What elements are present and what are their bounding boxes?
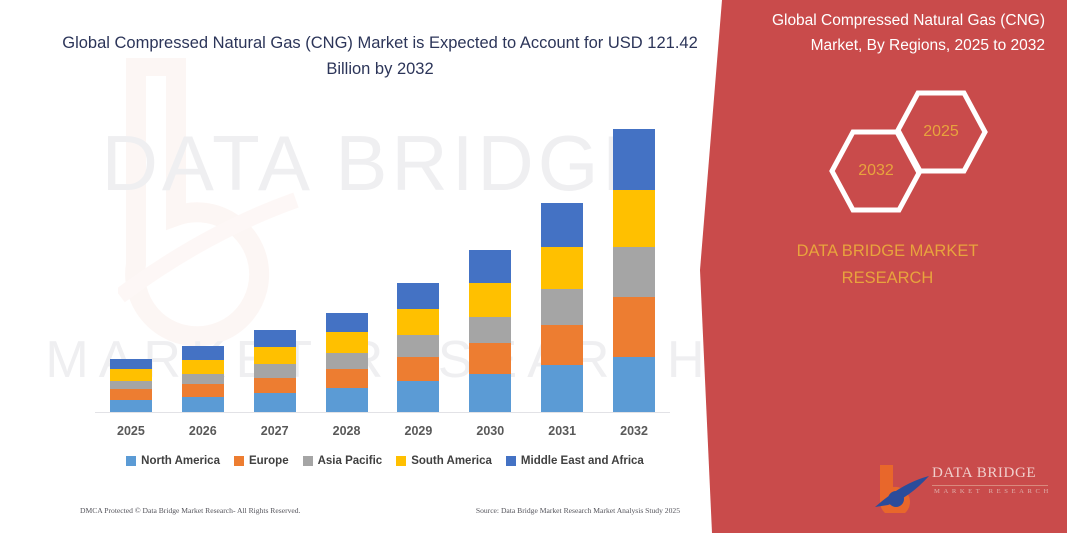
legend-label: Middle East and Africa <box>521 455 644 467</box>
bar-slot <box>526 110 598 412</box>
bar-segment-asia-pacific[interactable] <box>613 247 655 297</box>
bar-slot <box>311 110 383 412</box>
bar-segment-europe[interactable] <box>326 369 368 389</box>
bar-segment-south-america[interactable] <box>182 360 224 374</box>
logo-name: DATA BRIDGE <box>932 465 1036 482</box>
bar-segment-middle-east-and-africa[interactable] <box>326 313 368 333</box>
footer: DMCA Protected © Data Bridge Market Rese… <box>80 506 680 515</box>
bar-segment-north-america[interactable] <box>110 400 152 412</box>
bar-segment-north-america[interactable] <box>397 381 439 412</box>
bar-segment-asia-pacific[interactable] <box>469 317 511 344</box>
bar-segment-middle-east-and-africa[interactable] <box>541 203 583 247</box>
legend-swatch-icon <box>506 456 516 466</box>
bar-segment-middle-east-and-africa[interactable] <box>182 346 224 359</box>
x-tick-2029: 2029 <box>383 424 455 438</box>
bar-slot <box>167 110 239 412</box>
bar-segment-middle-east-and-africa[interactable] <box>254 330 296 346</box>
bar-segment-middle-east-and-africa[interactable] <box>469 250 511 283</box>
x-axis-tick-labels: 20252026202720282029203020312032 <box>95 424 670 444</box>
bar-segment-north-america[interactable] <box>182 397 224 412</box>
chart-panel: DATA BRIDGE MARKET RESEARCH Global Compr… <box>0 0 760 533</box>
legend-swatch-icon <box>234 456 244 466</box>
legend-item-middle-east-and-africa[interactable]: Middle East and Africa <box>506 455 644 467</box>
stacked-bar-plot <box>95 110 670 413</box>
bar-segment-europe[interactable] <box>182 384 224 396</box>
x-tick-2028: 2028 <box>311 424 383 438</box>
bar-segment-asia-pacific[interactable] <box>397 335 439 356</box>
footer-source: Source: Data Bridge Market Research Mark… <box>476 506 680 515</box>
bar-segment-asia-pacific[interactable] <box>541 289 583 325</box>
page-title: Global Compressed Natural Gas (CNG) Mark… <box>60 30 700 82</box>
stacked-bar-2026[interactable] <box>182 346 224 412</box>
footer-copyright: DMCA Protected © Data Bridge Market Rese… <box>80 506 300 515</box>
x-tick-2025: 2025 <box>95 424 167 438</box>
bar-segment-north-america[interactable] <box>469 374 511 412</box>
x-tick-2032: 2032 <box>598 424 670 438</box>
hexagon-start-year-label: 2025 <box>894 90 988 174</box>
bar-segment-europe[interactable] <box>541 325 583 365</box>
legend-swatch-icon <box>396 456 406 466</box>
stacked-bar-2032[interactable] <box>613 129 655 412</box>
bar-segment-europe[interactable] <box>110 389 152 399</box>
bar-segment-north-america[interactable] <box>541 365 583 412</box>
stacked-bar-2027[interactable] <box>254 330 296 412</box>
legend-swatch-icon <box>126 456 136 466</box>
stacked-bar-2029[interactable] <box>397 283 439 412</box>
legend-label: Asia Pacific <box>318 455 383 467</box>
bar-slot <box>598 110 670 412</box>
legend-label: Europe <box>249 455 289 467</box>
bridge-b-logo-icon <box>874 463 930 513</box>
x-tick-2027: 2027 <box>239 424 311 438</box>
legend-item-asia-pacific[interactable]: Asia Pacific <box>303 455 383 467</box>
bar-slot <box>239 110 311 412</box>
bar-segment-middle-east-and-africa[interactable] <box>110 359 152 369</box>
legend-label: North America <box>141 455 220 467</box>
stacked-bar-2030[interactable] <box>469 250 511 412</box>
bar-segment-north-america[interactable] <box>613 357 655 412</box>
bar-segment-south-america[interactable] <box>541 247 583 289</box>
bar-segment-north-america[interactable] <box>326 388 368 412</box>
bar-segment-south-america[interactable] <box>254 347 296 364</box>
legend-swatch-icon <box>303 456 313 466</box>
bar-segment-asia-pacific[interactable] <box>182 374 224 384</box>
bar-segment-north-america[interactable] <box>254 393 296 412</box>
brand-name: DATA BRIDGE MARKET RESEARCH <box>690 238 1067 292</box>
x-tick-2026: 2026 <box>167 424 239 438</box>
legend-item-south-america[interactable]: South America <box>396 455 492 467</box>
x-tick-2031: 2031 <box>526 424 598 438</box>
brand-name-line1: DATA BRIDGE MARKET <box>708 238 1067 265</box>
legend-item-europe[interactable]: Europe <box>234 455 289 467</box>
bar-slot <box>454 110 526 412</box>
bar-segment-europe[interactable] <box>254 378 296 393</box>
stacked-bar-2028[interactable] <box>326 313 368 413</box>
bar-slot <box>95 110 167 412</box>
bar-segment-europe[interactable] <box>397 357 439 382</box>
bar-slot <box>383 110 455 412</box>
chart-legend: North AmericaEuropeAsia PacificSouth Ame… <box>95 455 675 467</box>
bar-segment-south-america[interactable] <box>397 309 439 336</box>
stacked-bar-2031[interactable] <box>541 203 583 412</box>
legend-label: South America <box>411 455 492 467</box>
x-tick-2030: 2030 <box>454 424 526 438</box>
bar-segment-europe[interactable] <box>469 343 511 374</box>
bar-segment-asia-pacific[interactable] <box>110 381 152 389</box>
stacked-bar-2025[interactable] <box>110 359 152 412</box>
hexagon-badge-start-year: 2025 <box>894 90 988 174</box>
legend-item-north-america[interactable]: North America <box>126 455 220 467</box>
bar-segment-europe[interactable] <box>613 297 655 356</box>
company-logo: DATA BRIDGE MARKET RESEARCH <box>874 463 1054 515</box>
bar-segment-south-america[interactable] <box>469 283 511 317</box>
bar-segment-south-america[interactable] <box>110 369 152 381</box>
bar-segment-middle-east-and-africa[interactable] <box>613 129 655 190</box>
bar-segment-middle-east-and-africa[interactable] <box>397 283 439 309</box>
brand-panel: Global Compressed Natural Gas (CNG) Mark… <box>690 0 1067 533</box>
bar-segment-south-america[interactable] <box>613 190 655 246</box>
bar-segment-asia-pacific[interactable] <box>326 353 368 369</box>
bar-segment-south-america[interactable] <box>326 332 368 353</box>
infographic-root: DATA BRIDGE MARKET RESEARCH Global Compr… <box>0 0 1067 533</box>
brand-name-line2: RESEARCH <box>708 265 1067 292</box>
brand-panel-title: Global Compressed Natural Gas (CNG) Mark… <box>767 8 1045 58</box>
logo-divider <box>932 485 1048 486</box>
bar-segment-asia-pacific[interactable] <box>254 364 296 377</box>
logo-subtitle: MARKET RESEARCH <box>934 488 1052 495</box>
